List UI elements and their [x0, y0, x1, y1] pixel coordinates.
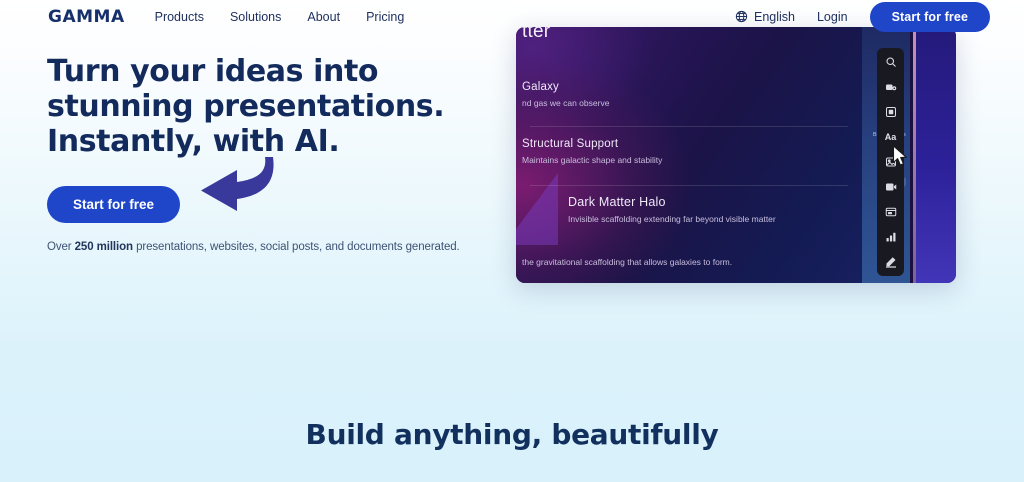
site-header: GAMMA Products Solutions About Pricing E… [0, 0, 1024, 33]
language-label: English [754, 10, 795, 24]
hero-headline-line-1: Turn your ideas into [47, 55, 487, 90]
primary-nav: Products Solutions About Pricing [155, 10, 405, 24]
panel-block-heading: Structural Support [522, 138, 662, 150]
panel-block-desc: the gravitational scaffolding that allow… [522, 257, 732, 267]
nav-item-pricing[interactable]: Pricing [366, 10, 404, 24]
language-selector[interactable]: English [735, 10, 795, 24]
panel-divider-line [530, 185, 848, 186]
hero-subtext-suffix: presentations, websites, social posts, a… [133, 241, 460, 253]
card-frame-icon[interactable] [884, 105, 898, 119]
panel-right-strip [916, 27, 956, 283]
panel-divider-line [530, 126, 848, 127]
text-aa-glyph: Aa [885, 133, 897, 142]
nav-item-about[interactable]: About [307, 10, 340, 24]
panel-canvas: tter Galaxy nd gas we can observe Struct… [516, 27, 862, 283]
search-icon[interactable] [884, 55, 898, 69]
panel-block-heading: Galaxy [522, 81, 609, 93]
decorative-triangle [516, 173, 558, 245]
image-icon[interactable] [884, 155, 898, 169]
panel-block-heading: Dark Matter Halo [568, 195, 776, 209]
hero-headline-line-2: stunning presentations. [47, 90, 487, 125]
panel-block: Dark Matter Halo Invisible scaffolding e… [568, 195, 776, 224]
header-start-for-free-button[interactable]: Start for free [870, 2, 990, 32]
smart-layout-icon[interactable] [884, 80, 898, 94]
embed-icon[interactable] [884, 205, 898, 219]
login-link[interactable]: Login [817, 10, 848, 24]
hero-subtext-prefix: Over [47, 241, 75, 253]
hero-section: Turn your ideas into stunning presentati… [47, 55, 487, 253]
hero-headline: Turn your ideas into stunning presentati… [47, 55, 487, 159]
hero-cta-row: Start for free [47, 186, 487, 230]
draw-pen-icon[interactable] [884, 255, 898, 269]
panel-block-desc: Invisible scaffolding extending far beyo… [568, 214, 776, 224]
nav-item-products[interactable]: Products [155, 10, 204, 24]
gamma-logo[interactable]: GAMMA [48, 7, 125, 27]
panel-vertical-toolbar: Aa [877, 48, 904, 276]
video-icon[interactable] [884, 180, 898, 194]
chart-bar-icon[interactable] [884, 230, 898, 244]
bottom-section-title: Build anything, beautifully [0, 418, 1024, 451]
hero-start-for-free-button[interactable]: Start for free [47, 186, 180, 223]
hero-headline-line-3: Instantly, with AI. [47, 125, 487, 160]
nav-item-solutions[interactable]: Solutions [230, 10, 281, 24]
panel-block: Structural Support Maintains galactic sh… [522, 138, 662, 165]
product-screenshot-panel[interactable]: tter Galaxy nd gas we can observe Struct… [516, 27, 956, 283]
panel-block: Galaxy nd gas we can observe [522, 81, 609, 108]
hero-subtext: Over 250 million presentations, websites… [47, 241, 487, 253]
curved-left-arrow-icon [175, 155, 279, 225]
panel-block: the gravitational scaffolding that allow… [522, 252, 732, 267]
panel-block-desc: nd gas we can observe [522, 98, 609, 108]
text-aa-icon[interactable]: Aa [884, 130, 898, 144]
panel-block-desc: Maintains galactic shape and stability [522, 155, 662, 165]
hero-subtext-highlight: 250 million [75, 241, 133, 253]
globe-icon [735, 10, 748, 23]
header-actions: English Login Start for free [735, 2, 990, 32]
